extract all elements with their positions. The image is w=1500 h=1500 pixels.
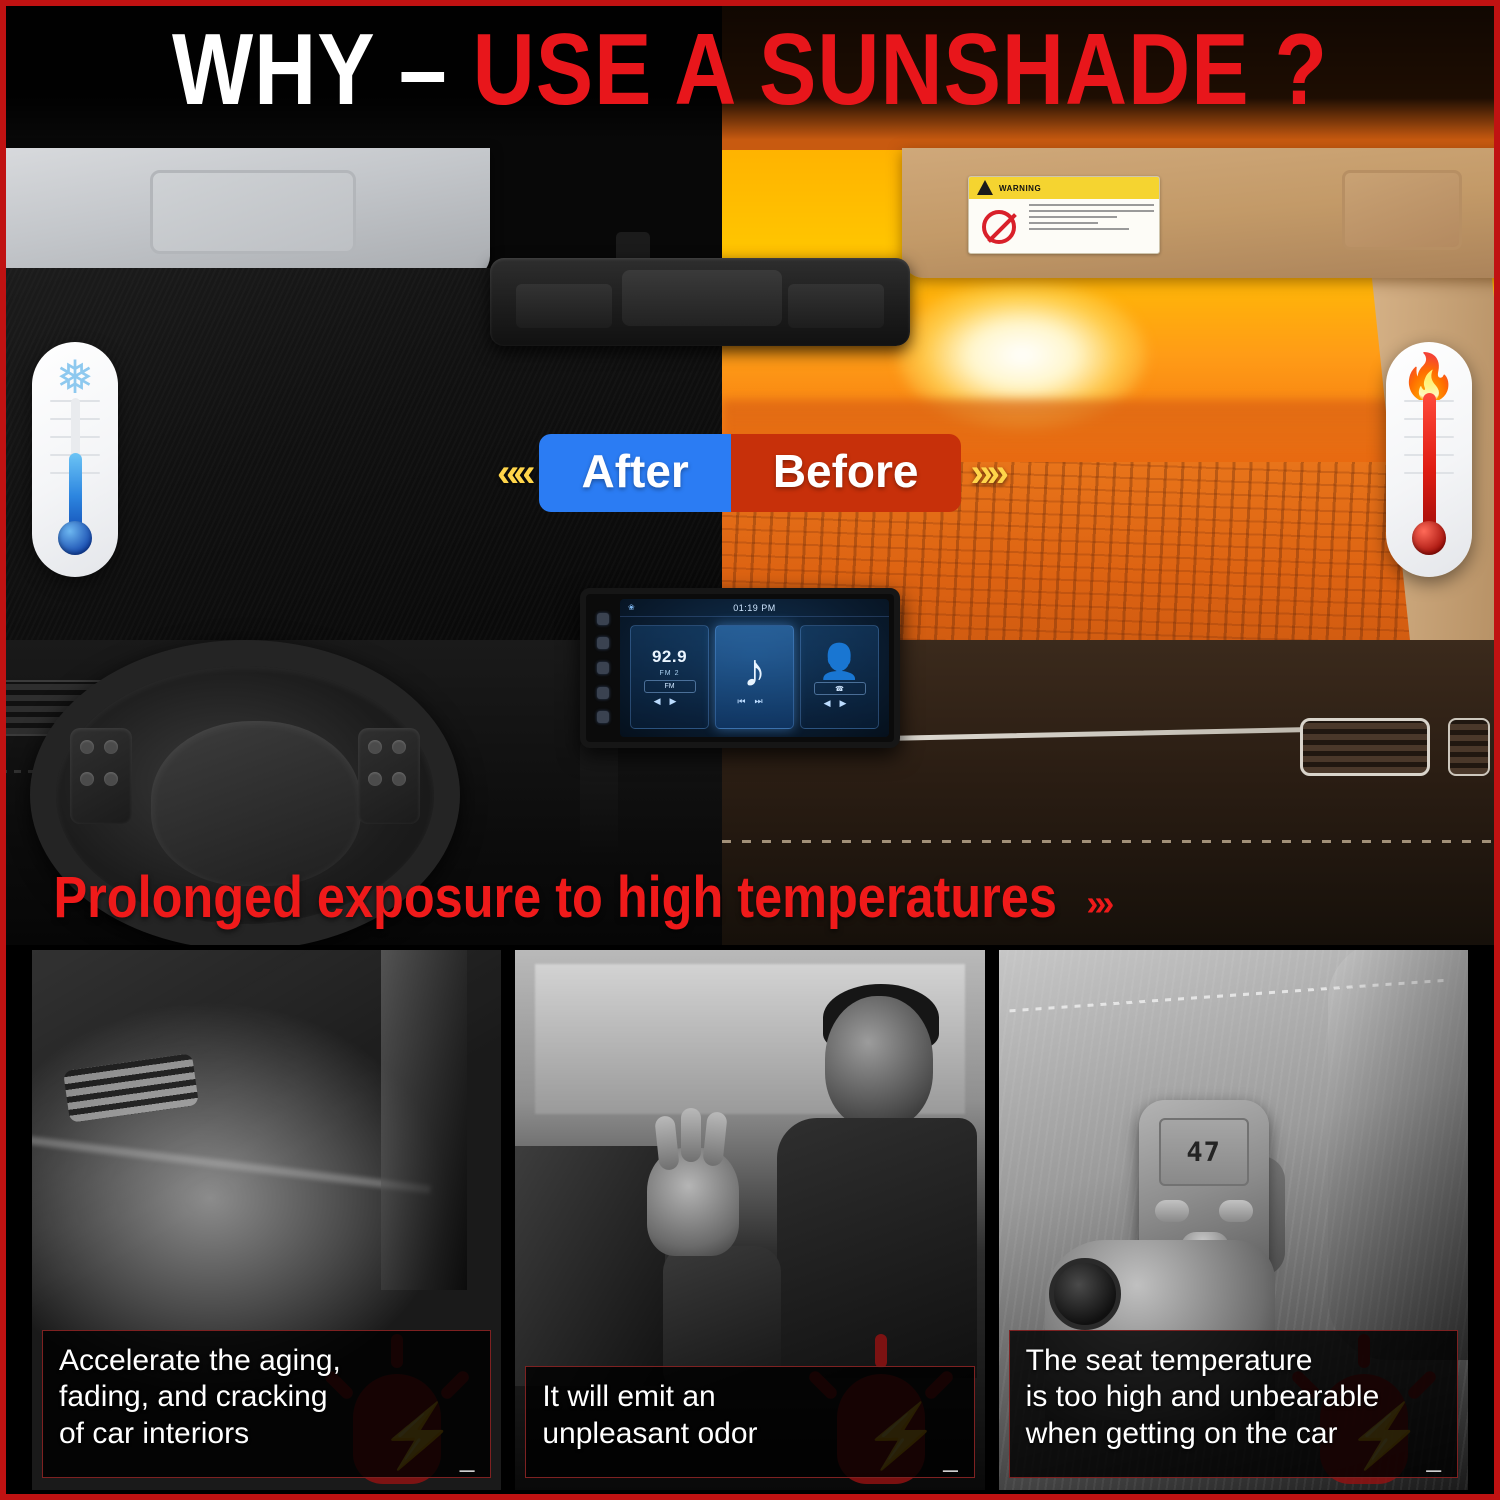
after-badge[interactable]: After	[539, 434, 730, 512]
header-bar: WHY – USE A SUNSHADE ?	[0, 0, 1500, 140]
media-button[interactable]	[597, 662, 609, 674]
music-note-icon: ♪	[743, 647, 766, 693]
infotainment-screen[interactable]: ❀ 01:19 PM 92.9 FM 2 FM ◀▶ ♪ ⏮⏭ �	[620, 599, 889, 737]
sun-visor-left	[0, 148, 490, 278]
infotainment-tiles: 92.9 FM 2 FM ◀▶ ♪ ⏮⏭ 👤 ☎ ◀▶	[620, 617, 889, 737]
caption-underscore: _	[59, 1453, 474, 1463]
visor-pocket	[1342, 170, 1462, 250]
infotainment-display[interactable]: ❀ 01:19 PM 92.9 FM 2 FM ◀▶ ♪ ⏮⏭ �	[580, 588, 900, 748]
panel-caption: Accelerate the aging, fading, and cracki…	[42, 1330, 491, 1478]
benefits-panel-row: ⚡ Accelerate the aging, fading, and crac…	[0, 945, 1500, 1500]
subheading-text: Prolonged exposure to high temperatures	[54, 864, 1057, 931]
steering-button	[392, 740, 406, 754]
air-vent-side-right	[1448, 718, 1490, 776]
phone-page-controls[interactable]: ◀▶	[824, 698, 856, 709]
door-panel	[515, 1146, 665, 1386]
airbag-warning-label: WARNING	[968, 176, 1160, 254]
infotainment-mount	[580, 742, 618, 852]
panel-aging-interior: ⚡ Accelerate the aging, fading, and crac…	[32, 950, 501, 1490]
before-badge[interactable]: Before	[731, 434, 961, 512]
panels-container: ⚡ Accelerate the aging, fading, and crac…	[32, 950, 1468, 1490]
before-after-badge-row: «« After Before »»	[0, 434, 1500, 512]
volume-button[interactable]	[597, 711, 609, 723]
thermometer-button-left[interactable]	[1155, 1200, 1189, 1222]
person-icon: 👤	[818, 645, 860, 679]
chevron-right-icon: »»	[971, 451, 1004, 496]
seat-pillar	[381, 950, 467, 1290]
caption-line: The seat temperature	[1026, 1343, 1441, 1380]
rear-seat-right-reflection	[788, 284, 884, 328]
home-button[interactable]	[597, 637, 609, 649]
airbag-hub	[151, 721, 361, 886]
radio-tile[interactable]: 92.9 FM 2 FM ◀▶	[630, 625, 709, 729]
steering-button	[104, 772, 118, 786]
caption-line: when getting on the car	[1026, 1416, 1441, 1453]
media-transport-controls[interactable]: ⏮⏭	[737, 696, 771, 707]
product-infographic: WARNING	[0, 0, 1500, 1500]
radio-frequency: 92.9	[652, 647, 687, 667]
dash-edge-highlight	[32, 1134, 431, 1193]
steering-controls-left	[70, 728, 132, 824]
wristwatch	[1049, 1258, 1121, 1330]
rear-seat-left-reflection	[516, 284, 612, 328]
snowflake-icon: ❅	[32, 354, 118, 400]
air-vent-photo	[63, 1053, 199, 1123]
panel-caption: It will emit an unpleasant odor _	[525, 1366, 974, 1478]
air-vent-right	[1300, 718, 1430, 776]
dash-stitching-right	[722, 840, 1500, 843]
no-child-seat-icon	[969, 199, 1029, 254]
thermometer-button-right[interactable]	[1219, 1200, 1253, 1222]
steering-controls-right	[358, 728, 420, 824]
person-finger	[655, 1115, 681, 1171]
caption-line: of car interiors	[59, 1416, 474, 1453]
steering-button	[80, 740, 94, 754]
radio-band: FM 2	[660, 670, 680, 677]
panel-hot-seat-temperature: 47 ⚡ The seat t	[999, 950, 1468, 1490]
caption-line: is too high and unbearable	[1026, 1379, 1441, 1416]
thermometer-bulb-cold	[58, 521, 92, 555]
radio-transport-controls[interactable]: ◀▶	[654, 696, 686, 707]
person-head	[825, 996, 933, 1128]
steering-button	[368, 740, 382, 754]
person-torso	[777, 1118, 977, 1378]
caption-line: unpleasant odor	[542, 1416, 957, 1453]
infotainment-side-buttons[interactable]	[586, 594, 620, 742]
panel-unpleasant-odor: ⚡ It will emit an unpleasant odor _	[515, 950, 984, 1490]
hero-split-comparison: WARNING	[0, 0, 1500, 945]
phone-handset-icon[interactable]: ☎	[814, 682, 866, 695]
caption-line: fading, and cracking	[59, 1379, 474, 1416]
page-title: WHY – USE A SUNSHADE ?	[172, 12, 1328, 129]
thermometer-reading: 47	[1186, 1137, 1221, 1168]
rear-seat-center-reflection	[622, 270, 782, 326]
caption-line: Accelerate the aging,	[59, 1343, 474, 1380]
caption-underscore: _	[1026, 1453, 1441, 1463]
panel-caption: The seat temperature is too high and unb…	[1009, 1330, 1458, 1478]
infotainment-clock: 01:19 PM	[733, 603, 776, 613]
thermometer-bulb-hot	[1412, 521, 1446, 555]
warning-label-text-lines	[1029, 199, 1159, 254]
rearview-mirror	[490, 258, 910, 346]
radio-preset-pill[interactable]: FM	[644, 680, 696, 693]
steering-button	[80, 772, 94, 786]
warning-triangle-icon	[977, 180, 993, 195]
thermometer-lcd: 47	[1159, 1118, 1249, 1186]
steering-button	[392, 772, 406, 786]
steering-button	[104, 740, 118, 754]
title-white-part: WHY –	[172, 13, 473, 126]
chevron-right-triple-icon: ›››	[1086, 882, 1110, 924]
seat-bolster	[1328, 950, 1468, 1360]
caption-underscore: _	[542, 1453, 957, 1463]
caption-line: It will emit an	[542, 1379, 957, 1416]
infotainment-status-bar: ❀ 01:19 PM	[620, 599, 889, 617]
chevron-left-icon: ««	[497, 451, 530, 496]
subheading: Prolonged exposure to high temperatures …	[38, 868, 1110, 928]
bluetooth-icon: ❀	[628, 603, 635, 612]
media-tile[interactable]: ♪ ⏮⏭	[715, 625, 794, 729]
warning-label-heading: WARNING	[999, 184, 1041, 193]
person-finger	[681, 1108, 701, 1162]
title-red-part: USE A SUNSHADE ?	[473, 13, 1328, 126]
climate-button[interactable]	[597, 687, 609, 699]
sun-visor-right: WARNING	[902, 148, 1500, 278]
warning-label-header: WARNING	[969, 177, 1159, 199]
warning-label-body	[969, 199, 1159, 254]
power-button[interactable]	[597, 613, 609, 625]
phone-tile[interactable]: 👤 ☎ ◀▶	[800, 625, 879, 729]
visor-clip	[168, 178, 186, 240]
steering-button	[368, 772, 382, 786]
